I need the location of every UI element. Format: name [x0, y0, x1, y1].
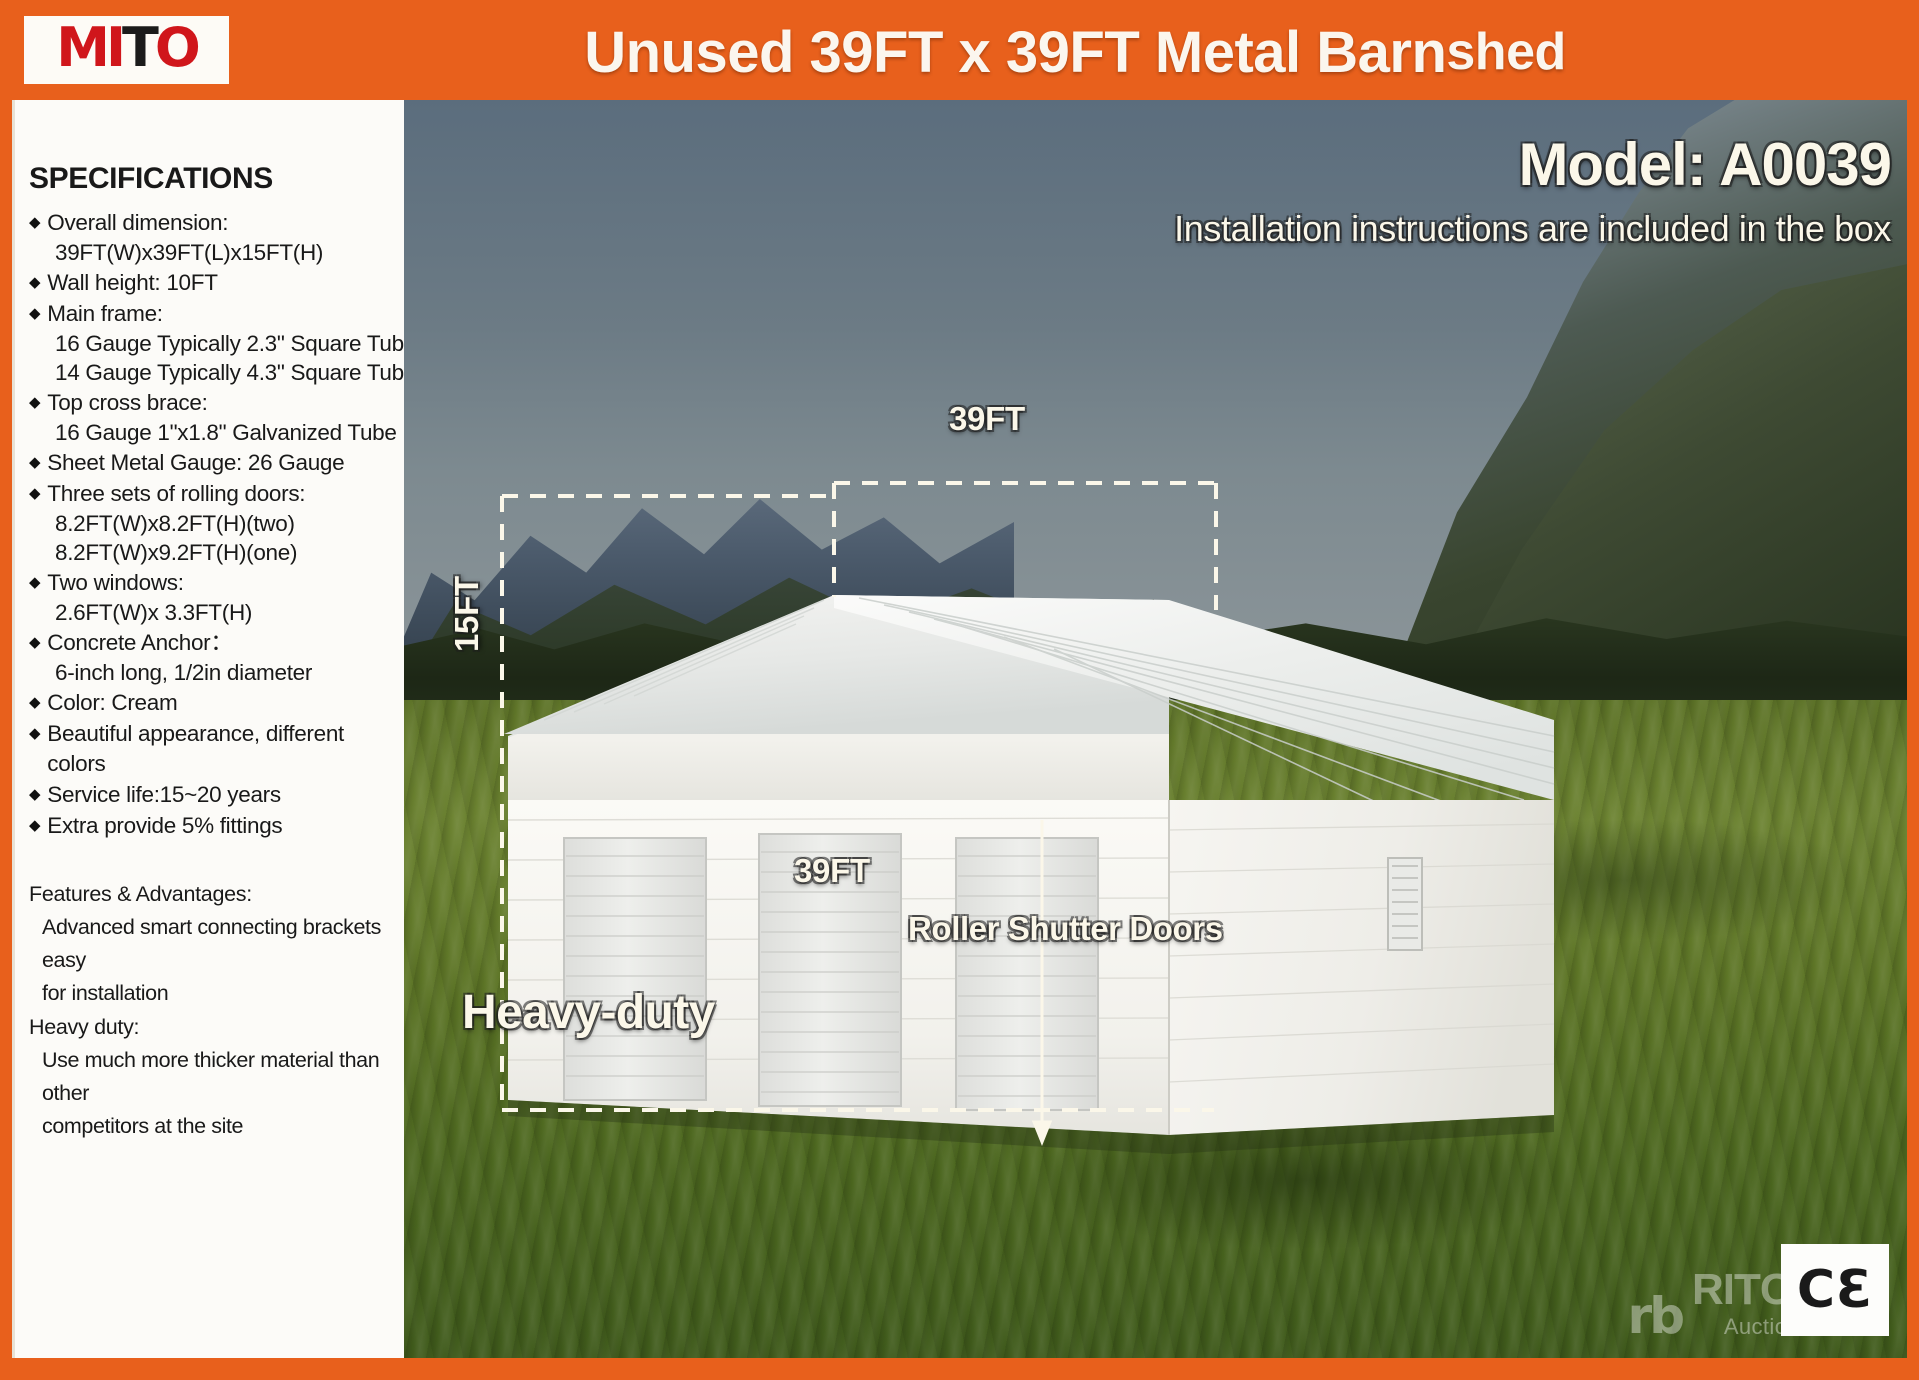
spec-label: Color: Cream	[47, 688, 177, 718]
spec-label: Concrete Anchor：	[47, 628, 232, 658]
diamond-bullet-icon: ◆	[29, 448, 40, 478]
heavy-duty-badge: Heavy-duty	[462, 985, 715, 1040]
page-title: Unused 39FT x 39FT Metal Barn shed	[250, 14, 1900, 90]
spec-item: ◆Three sets of rolling doors: 8.2FT(W)x8…	[29, 479, 404, 567]
spec-detail: 39FT(W)x39FT(L)x15FT(H)	[29, 238, 404, 267]
roller-shutter-door	[956, 838, 1098, 1110]
spec-item: ◆Service life:15~20 years	[29, 780, 404, 810]
spec-detail: 8.2FT(W)x9.2FT(H)(one)	[29, 538, 404, 567]
diamond-bullet-icon: ◆	[29, 719, 40, 749]
diamond-bullet-icon: ◆	[29, 388, 40, 418]
dimension-label-height: 15FT	[448, 576, 486, 652]
ce-mark-text: CƐ	[1797, 1264, 1873, 1316]
diamond-bullet-icon: ◆	[29, 688, 40, 718]
spec-label: Sheet Metal Gauge: 26 Gauge	[47, 448, 344, 478]
features-line: for installation	[29, 977, 404, 1010]
spec-detail: 16 Gauge 1"x1.8" Galvanized Tube	[29, 418, 404, 447]
spec-label: Two windows:	[47, 568, 183, 598]
spec-item: ◆Main frame: 16 Gauge Typically 2.3" Squ…	[29, 299, 404, 387]
features-heading: Features & Advantages:	[29, 877, 404, 911]
spec-detail: 8.2FT(W)x8.2FT(H)(two)	[29, 509, 404, 538]
diamond-bullet-icon: ◆	[29, 628, 40, 658]
side-window	[1388, 858, 1422, 950]
installation-note: Installation instructions are included i…	[1174, 208, 1891, 250]
product-photo: Model: A0039 Installation instructions a…	[404, 100, 1907, 1358]
brand-logo-text: MITO	[56, 21, 197, 75]
spec-item: ◆Two windows: 2.6FT(W)x 3.3FT(H)	[29, 568, 404, 627]
spec-detail: 6-inch long, 1/2in diameter	[29, 658, 404, 687]
roller-shutter-doors-callout: Roller Shutter Doors	[908, 910, 1223, 948]
spec-item: ◆Wall height: 10FT	[29, 268, 404, 298]
spec-label: Beautiful appearance, different colors	[47, 719, 404, 779]
spec-label: Main frame:	[47, 299, 162, 329]
spec-label: Overall dimension:	[47, 208, 228, 238]
features-advantages-section: Features & Advantages: Advanced smart co…	[29, 877, 404, 1143]
spec-item: ◆Sheet Metal Gauge: 26 Gauge	[29, 448, 404, 478]
spec-label: Service life:15~20 years	[47, 780, 281, 810]
rb-logo-icon: rb	[1628, 1293, 1682, 1341]
spec-item: ◆Concrete Anchor： 6-inch long, 1/2in dia…	[29, 628, 404, 687]
brand-logo: MITO	[24, 16, 229, 84]
roller-shutter-door	[564, 838, 706, 1100]
metal-barn-illustration	[404, 100, 1907, 1358]
spec-label: Three sets of rolling doors:	[47, 479, 305, 509]
spec-item: ◆Overall dimension: 39FT(W)x39FT(L)x15FT…	[29, 208, 404, 267]
spec-detail: 2.6FT(W)x 3.3FT(H)	[29, 598, 404, 627]
heavy-duty-heading: Heavy duty:	[29, 1010, 404, 1044]
diamond-bullet-icon: ◆	[29, 479, 40, 509]
spec-label: Wall height: 10FT	[47, 268, 217, 298]
product-advertisement-poster: MITO Unused 39FT x 39FT Metal Barn shed …	[0, 0, 1919, 1380]
features-line: Advanced smart connecting brackets easy	[29, 911, 404, 977]
diamond-bullet-icon: ◆	[29, 811, 40, 841]
diamond-bullet-icon: ◆	[29, 780, 40, 810]
specifications-panel: SPECIFICATIONS ◆Overall dimension: 39FT(…	[12, 100, 404, 1368]
spec-detail: 14 Gauge Typically 4.3" Square Tube	[29, 358, 404, 387]
dimension-label-top: 39FT	[949, 400, 1025, 438]
specifications-heading: SPECIFICATIONS	[29, 162, 404, 196]
diamond-bullet-icon: ◆	[29, 299, 40, 329]
diamond-bullet-icon: ◆	[29, 568, 40, 598]
heavy-duty-line: Use much more thicker material than othe…	[29, 1044, 404, 1110]
spec-detail: 16 Gauge Typically 2.3" Square Tube	[29, 329, 404, 358]
spec-item: ◆Extra provide 5% fittings	[29, 811, 404, 841]
ce-mark-badge: CƐ	[1781, 1244, 1889, 1336]
footer-strip	[0, 1358, 1919, 1380]
heavy-duty-line: competitors at the site	[29, 1110, 404, 1143]
model-label: Model: A0039	[1518, 130, 1891, 199]
diamond-bullet-icon: ◆	[29, 268, 40, 298]
poster-header: MITO Unused 39FT x 39FT Metal Barn shed	[0, 0, 1919, 100]
spec-item: ◆Top cross brace: 16 Gauge 1"x1.8" Galva…	[29, 388, 404, 447]
diamond-bullet-icon: ◆	[29, 208, 40, 238]
spec-label: Top cross brace:	[47, 388, 207, 418]
right-side-wall	[1169, 800, 1554, 1135]
spec-item: ◆Color: Cream	[29, 688, 404, 718]
spec-item: ◆Beautiful appearance, different colors	[29, 719, 404, 779]
spec-label: Extra provide 5% fittings	[47, 811, 282, 841]
dimension-label-bottom: 39FT	[794, 852, 870, 890]
